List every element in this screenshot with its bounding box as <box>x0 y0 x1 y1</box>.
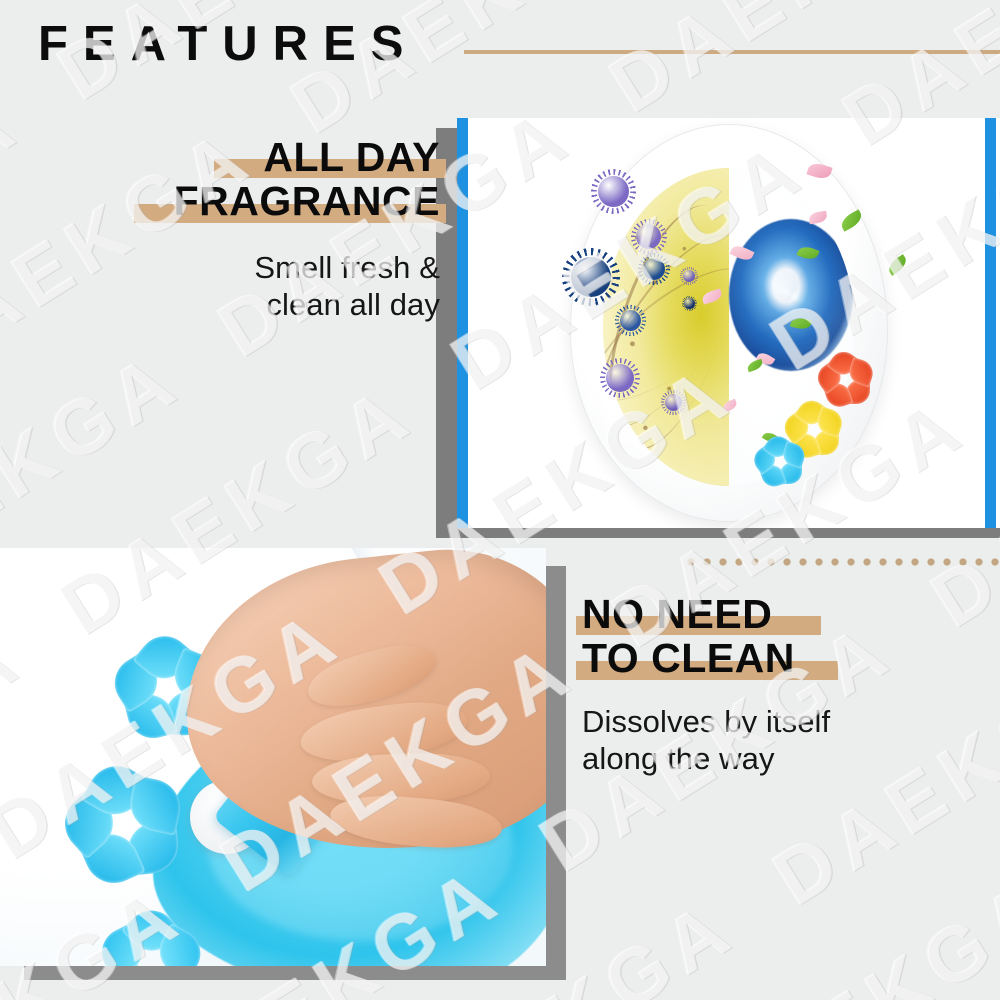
water-swirl <box>729 219 853 371</box>
gel-flower-blue <box>756 438 804 486</box>
germ-icon <box>571 257 611 297</box>
gel-flower-red <box>820 354 872 406</box>
feature-heading-line1: ALL DAY <box>40 135 440 179</box>
feature-image-all-day-fragrance <box>436 110 1000 530</box>
feature-image-no-need-to-clean <box>0 548 566 980</box>
feature-heading-line2: TO CLEAN <box>582 636 982 680</box>
dotted-divider <box>686 557 1000 567</box>
feature-heading-line1: NO NEED <box>582 592 982 636</box>
gel-flower-blue <box>104 914 198 966</box>
gel-flower-blue <box>70 770 180 880</box>
germ-icon <box>620 310 641 331</box>
feature-block-all-day-fragrance: ALL DAY FRAGRANCE Smell fresh & clean al… <box>40 135 440 324</box>
germ-icon <box>606 364 634 392</box>
panel-frame <box>457 118 1000 528</box>
infographic-canvas: FEATURES ALL DAY FRAGRANCE Smell fresh &… <box>0 0 1000 1000</box>
germ-icon <box>643 258 665 280</box>
feature-block-no-need-to-clean: NO NEED TO CLEAN Dissolves by itself alo… <box>582 592 982 778</box>
feature-heading-line2: FRAGRANCE <box>40 179 440 223</box>
panel-accent-left <box>457 118 468 528</box>
title-divider-rule <box>464 50 1000 54</box>
feature-subtitle: Smell fresh & clean all day <box>40 249 440 325</box>
germ-icon <box>636 224 661 249</box>
germ-icon <box>683 270 695 282</box>
leaf-icon <box>885 254 909 276</box>
panel-accent-right <box>985 118 996 528</box>
bowl-scene <box>457 118 1000 528</box>
page-title: FEATURES <box>38 20 418 69</box>
germ-icon <box>665 394 682 411</box>
feature-subtitle: Dissolves by itself along the way <box>582 703 982 779</box>
germ-icon <box>684 298 695 309</box>
panel-frame <box>0 548 546 966</box>
germ-icon <box>598 176 629 207</box>
